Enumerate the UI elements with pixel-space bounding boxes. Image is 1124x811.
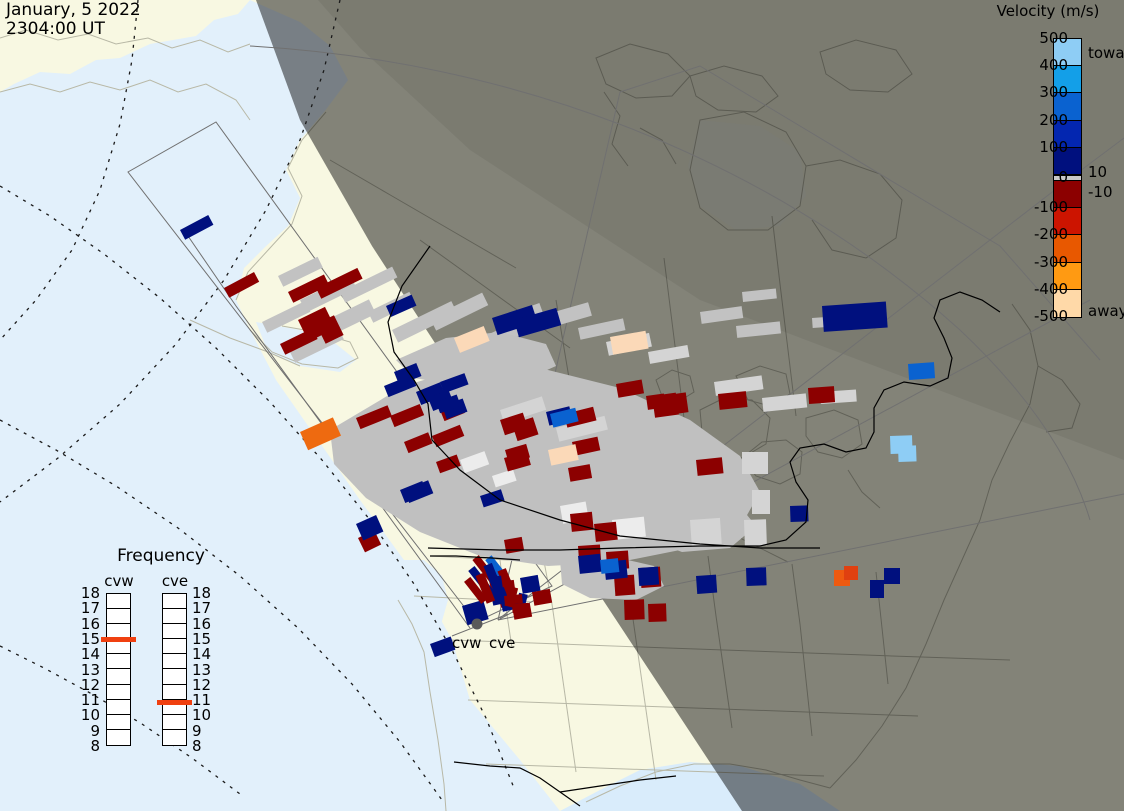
frequency-bar-cve: [162, 593, 187, 746]
frequency-marker-cve: [157, 700, 192, 705]
velocity-inner-lower-label: -10: [1088, 183, 1113, 201]
frequency-bar-segment: [107, 594, 130, 609]
velocity-inner-upper-label: 10: [1088, 163, 1107, 181]
velocity-tick-500: 500: [1006, 29, 1068, 47]
frequency-bar-segment: [163, 730, 186, 745]
date-text: January, 5 2022: [6, 0, 141, 20]
frequency-bar-segment: [107, 715, 130, 730]
frequency-bar-segment: [163, 685, 186, 700]
velocity-tick-100: 100: [1006, 138, 1068, 156]
frequency-bar-segment: [107, 609, 130, 624]
velocity-legend: Velocity (m/s) 5004003002001000-100-200-…: [978, 0, 1124, 340]
velocity-toward-label: toward: [1088, 44, 1124, 62]
velocity-legend-title: Velocity (m/s): [978, 2, 1118, 20]
station-dot-cvw: [472, 619, 483, 630]
frequency-bar-segment: [107, 730, 130, 745]
frequency-bar-segment: [107, 685, 130, 700]
frequency-bar-segment: [163, 669, 186, 684]
velocity-tick--100: -100: [1006, 198, 1068, 216]
velocity-tick--500: -500: [1006, 307, 1068, 325]
frequency-tick-cve-8: 8: [192, 737, 216, 755]
frequency-column-name-cvw: cvw: [96, 572, 142, 590]
velocity-tick--300: -300: [1006, 253, 1068, 271]
frequency-legend-title: Frequency: [86, 546, 236, 566]
frequency-bar-segment: [107, 669, 130, 684]
frequency-tick-cvw-8: 8: [76, 737, 100, 755]
station-label-cvw: cvw: [452, 634, 481, 652]
frequency-bar-segment: [107, 700, 130, 715]
velocity-tick-400: 400: [1006, 56, 1068, 74]
velocity-tick-0: 0: [1006, 168, 1068, 186]
frequency-bar-segment: [163, 624, 186, 639]
frequency-legend: Frequency cvw18171615141312111098cve1817…: [86, 546, 236, 786]
time-text: 2304:00 UT: [6, 19, 105, 39]
velocity-tick-200: 200: [1006, 111, 1068, 129]
frequency-bar-segment: [107, 654, 130, 669]
station-label-cve: cve: [489, 634, 515, 652]
timestamp: January, 5 20222304:00 UT: [6, 1, 141, 39]
velocity-away-label: away: [1088, 302, 1124, 320]
frequency-bar-segment: [163, 594, 186, 609]
radar-map-figure: cvw cve January, 5 20222304:00 UT Veloci…: [0, 0, 1124, 811]
frequency-marker-cvw: [101, 637, 136, 642]
frequency-bar-cvw: [106, 593, 131, 746]
velocity-tick--400: -400: [1006, 280, 1068, 298]
frequency-bar-segment: [163, 609, 186, 624]
velocity-tick--200: -200: [1006, 225, 1068, 243]
frequency-bar-segment: [163, 715, 186, 730]
frequency-bar-segment: [163, 639, 186, 654]
frequency-bar-segment: [163, 654, 186, 669]
velocity-tick-300: 300: [1006, 83, 1068, 101]
